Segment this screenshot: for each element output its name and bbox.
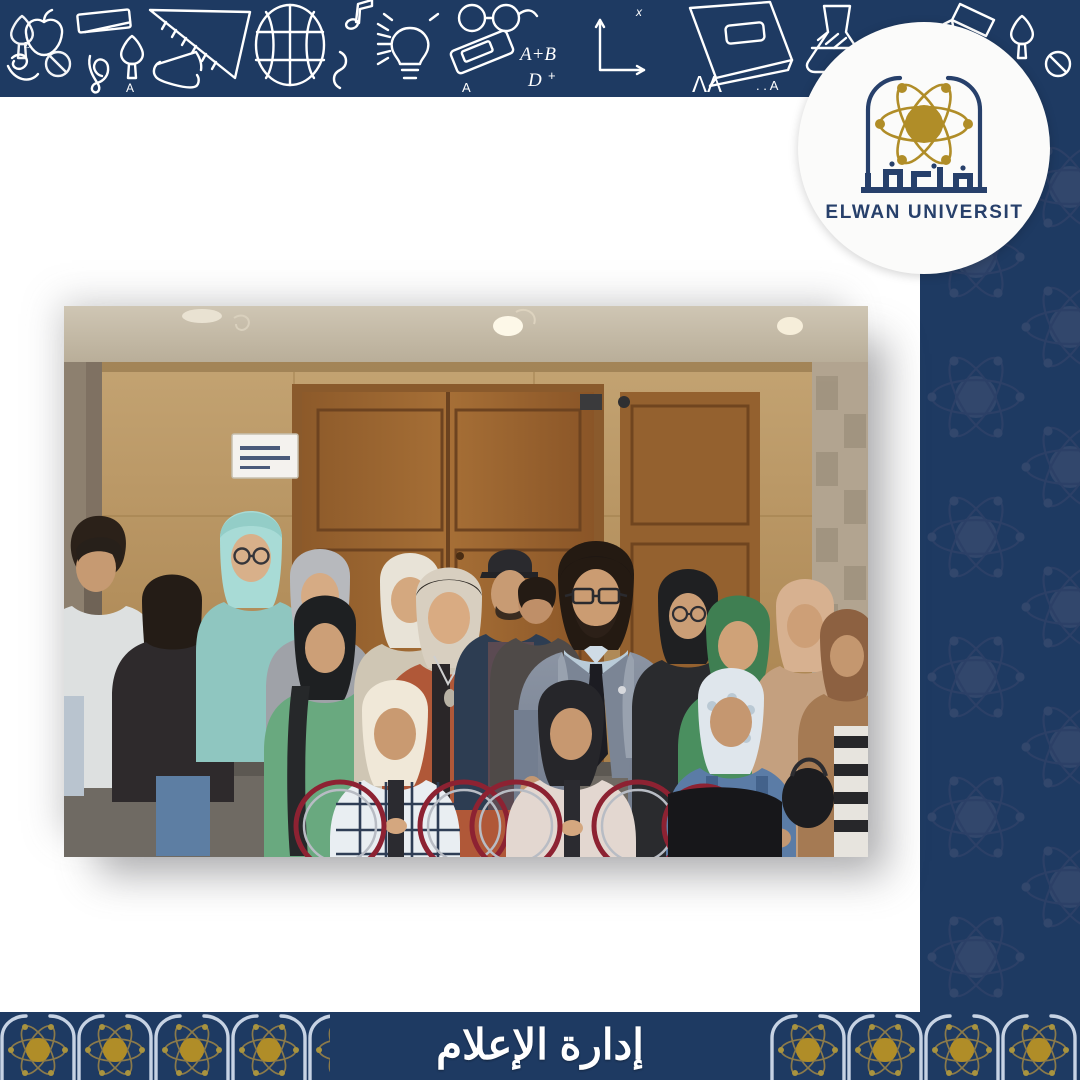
group-photo-frame[interactable] [64,306,868,857]
banner-title: إدارة الإعلام [0,1012,1080,1080]
media-administration-banner: إدارة الإعلام [0,1012,1080,1080]
helwan-university-logo-badge[interactable]: HELWAN UNIVERSITY [798,22,1050,274]
helwan-logo-mark: HELWAN UNIVERSITY [824,48,1024,248]
poster-canvas: z A [0,0,1080,1080]
logo-english-name: HELWAN UNIVERSITY [824,202,1024,223]
group-photo-illustration [64,306,868,857]
